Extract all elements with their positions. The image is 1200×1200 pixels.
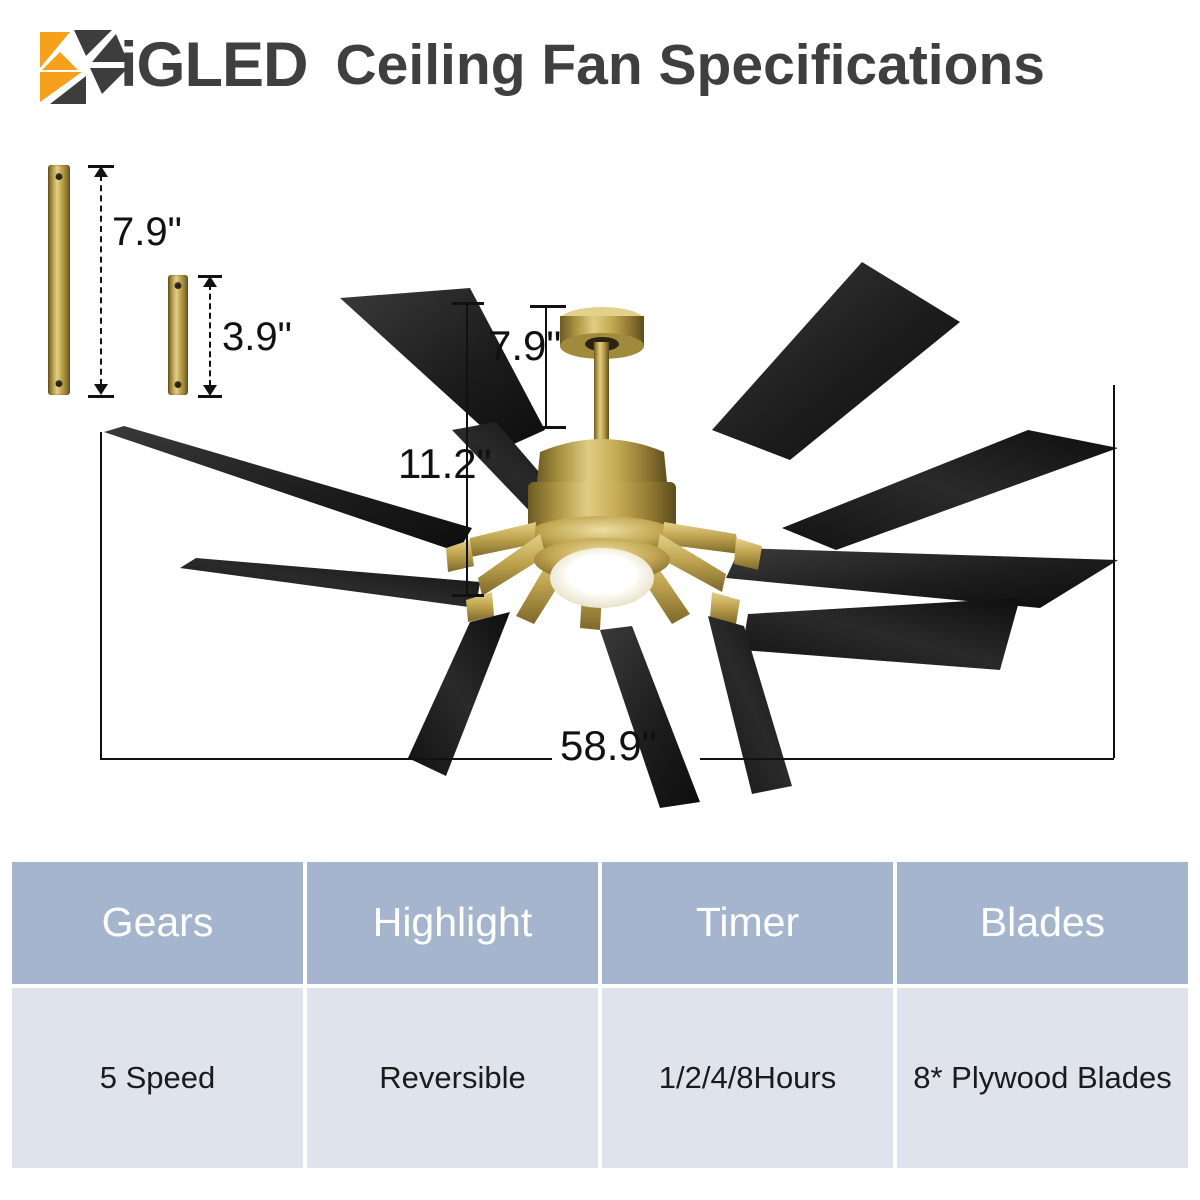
page-title: Ceiling Fan Specifications: [336, 37, 1045, 94]
table-cell-gears: 5 Speed: [12, 988, 303, 1168]
page-header: iGLED Ceiling Fan Specifications: [0, 0, 1200, 130]
fan-blade: [180, 558, 480, 608]
table-header-blades: Blades: [897, 862, 1188, 984]
width-dim-line-right: [700, 758, 1114, 760]
led-light-glow: [566, 554, 638, 594]
width-extension-line-right: [1113, 385, 1115, 758]
fan-downrod-tick-top: [530, 305, 566, 308]
fan-blade: [726, 548, 1118, 608]
fan-body-tick-bottom: [452, 594, 484, 597]
specifications-table: Gears Highlight Timer Blades 5 Speed Rev…: [12, 862, 1188, 1168]
fan-downrod-dim-label: 7.9": [488, 322, 561, 370]
width-dim-line-left: [100, 758, 552, 760]
fan-downrod-tick-bottom: [530, 426, 566, 429]
fan-blade: [712, 262, 960, 460]
logo-wordmark: iGLED: [120, 34, 308, 97]
downrod-shaft: [594, 342, 609, 440]
table-header-timer: Timer: [602, 862, 893, 984]
table-header-gears: Gears: [12, 862, 303, 984]
fan-body-tick-top: [452, 302, 484, 305]
fan-blade: [782, 430, 1118, 550]
fan-blade: [600, 626, 700, 808]
table-header-row: Gears Highlight Timer Blades: [12, 862, 1188, 984]
fan-blade: [408, 612, 510, 776]
width-dim-label: 58.9": [560, 722, 657, 770]
product-diagram: 7.9" 3.9": [0, 130, 1200, 830]
table-header-highlight: Highlight: [307, 862, 598, 984]
table-cell-blades: 8* Plywood Blades: [897, 988, 1188, 1168]
fan-blade: [742, 598, 1020, 670]
table-cell-timer: 1/2/4/8Hours: [602, 988, 893, 1168]
table-cell-highlight: Reversible: [307, 988, 598, 1168]
table-row: 5 Speed Reversible 1/2/4/8Hours 8* Plywo…: [12, 988, 1188, 1168]
fan-body-dim-label: 11.2": [398, 440, 492, 488]
aperture-d-logo-icon: [30, 28, 134, 106]
width-extension-line-left: [100, 432, 102, 758]
